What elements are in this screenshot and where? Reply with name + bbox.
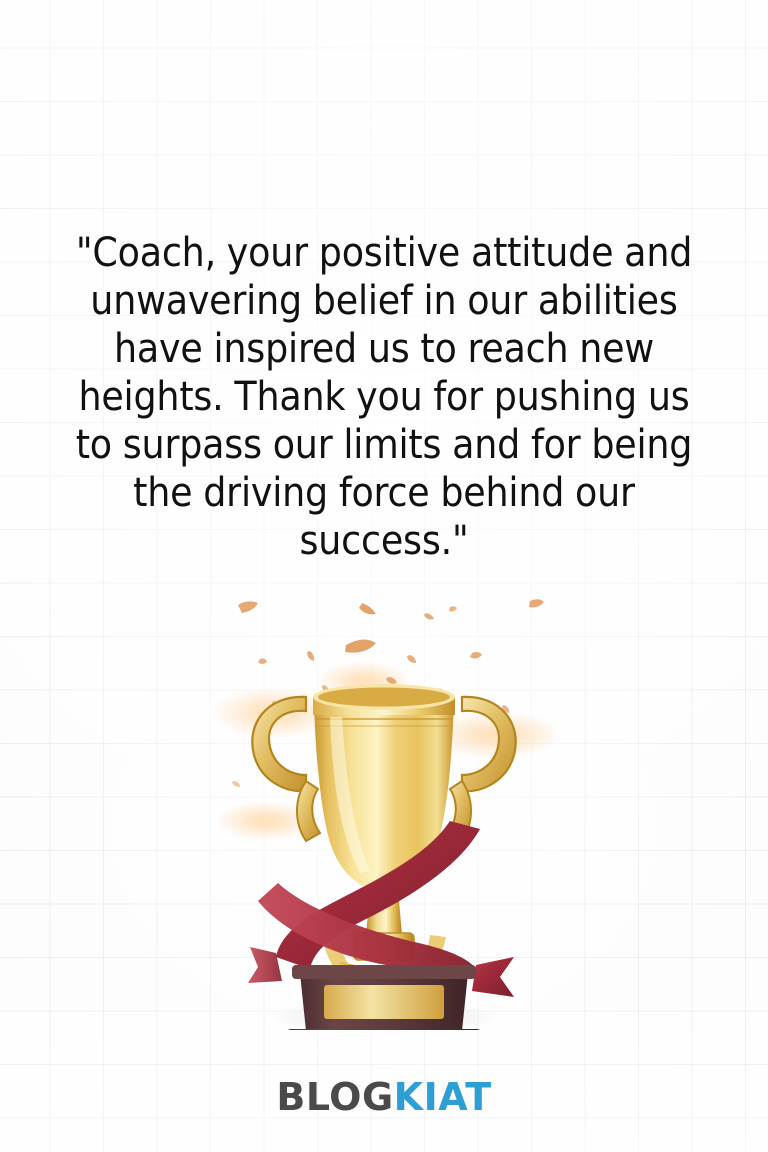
quote-block: "Coach, your positive attitude and unwav… bbox=[54, 228, 714, 564]
brand-logo: BLOGKIAT bbox=[276, 1078, 491, 1116]
trophy-illustration bbox=[214, 585, 554, 1030]
quote-poster: "Coach, your positive attitude and unwav… bbox=[0, 0, 768, 1152]
quote-text: "Coach, your positive attitude and unwav… bbox=[54, 228, 714, 564]
brand-logo-blog: BLOG bbox=[276, 1075, 393, 1119]
trophy-base bbox=[286, 965, 482, 1030]
brand-logo-kiat: KIAT bbox=[394, 1075, 492, 1119]
